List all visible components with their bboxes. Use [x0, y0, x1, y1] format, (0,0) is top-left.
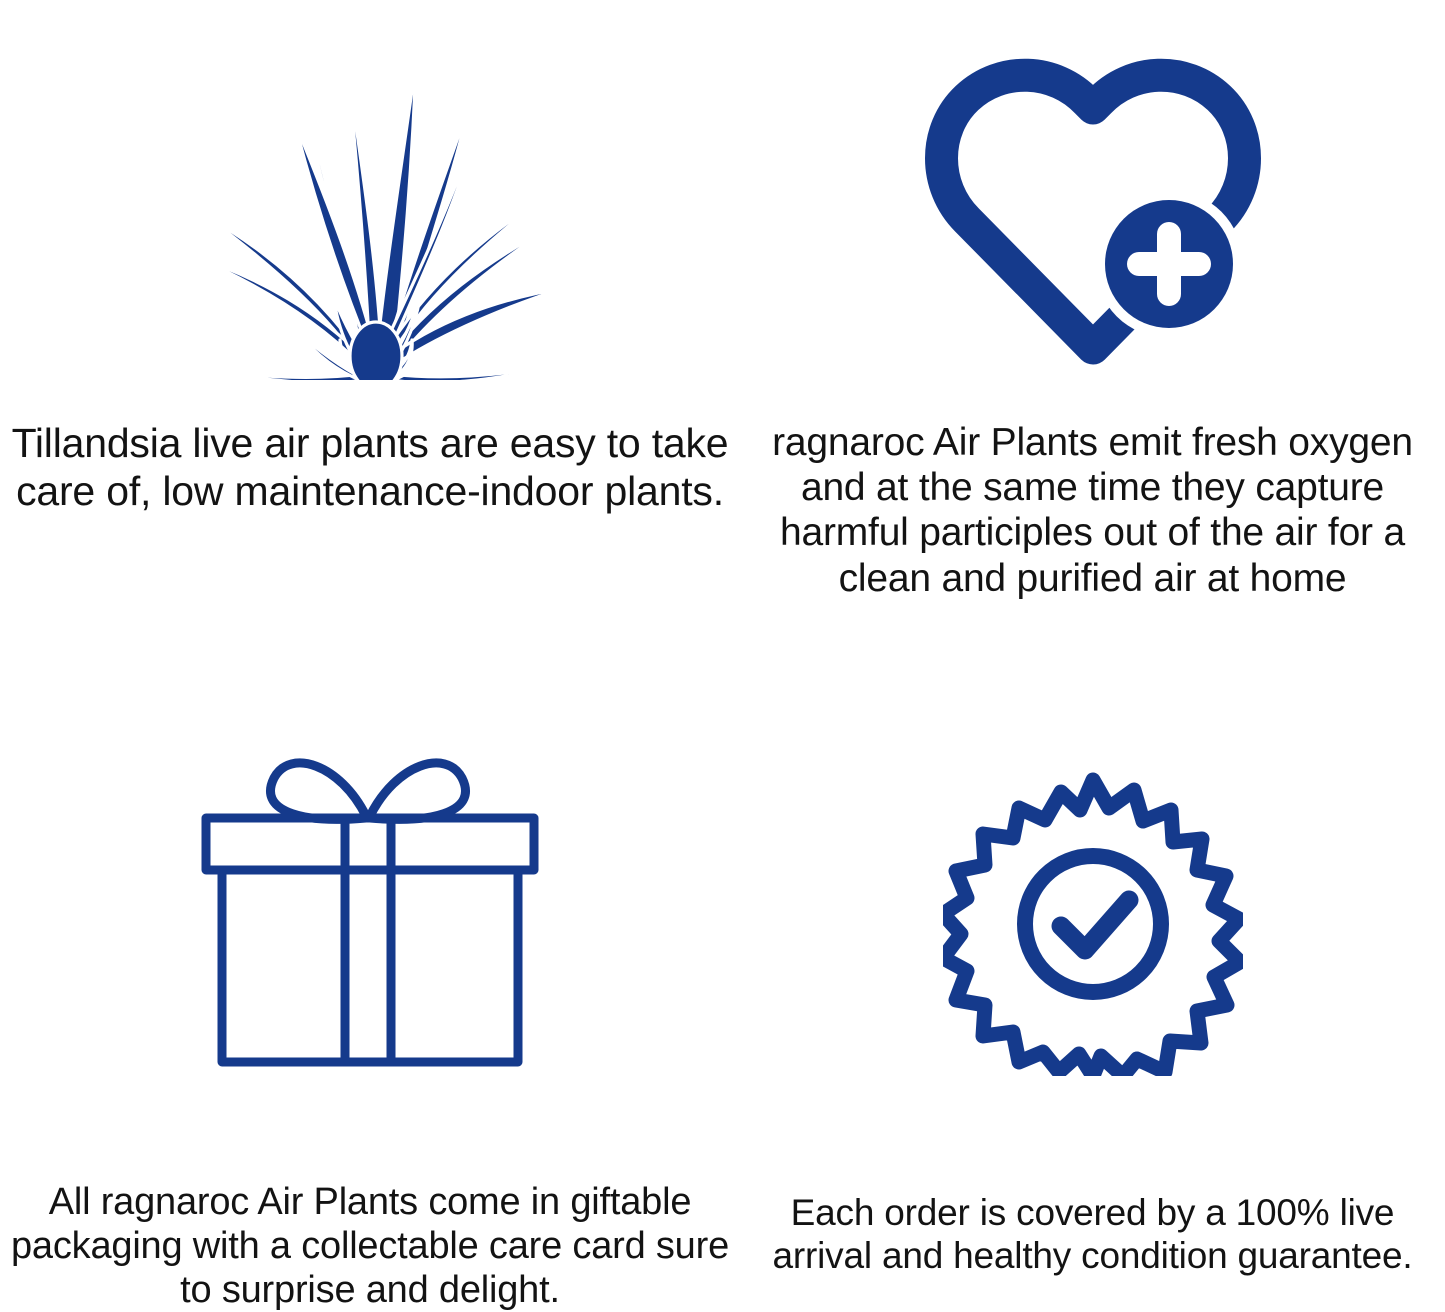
bow-loop-left [270, 763, 366, 819]
seal-circle [1025, 856, 1161, 992]
gift-box-icon [4, 656, 736, 1174]
checkmark-icon [1061, 900, 1129, 950]
heart-plus-icon [740, 0, 1445, 420]
gift-lid [206, 818, 534, 870]
feature-grid: Tillandsia live air plants are easy to t… [0, 0, 1445, 1312]
gift-body [222, 870, 518, 1062]
air-plant-icon [4, 0, 736, 420]
seal-starburst [943, 780, 1240, 1076]
feature-card-easy-care: Tillandsia live air plants are easy to t… [0, 0, 740, 656]
feature-caption-giftable-packaging: All ragnaroc Air Plants come in giftable… [0, 1180, 740, 1312]
feature-caption-easy-care: Tillandsia live air plants are easy to t… [2, 420, 738, 515]
feature-card-live-arrival-guarantee: Each order is covered by a 100% live arr… [740, 656, 1445, 1312]
verified-badge-icon [744, 656, 1441, 1186]
bow-loop-right [370, 763, 466, 819]
feature-card-giftable-packaging: All ragnaroc Air Plants come in giftable… [0, 656, 740, 1312]
feature-caption-live-arrival-guarantee: Each order is covered by a 100% live arr… [740, 1192, 1445, 1278]
feature-card-air-purifying: ragnaroc Air Plants emit fresh oxygen an… [740, 0, 1445, 656]
feature-caption-air-purifying: ragnaroc Air Plants emit fresh oxygen an… [740, 420, 1445, 601]
